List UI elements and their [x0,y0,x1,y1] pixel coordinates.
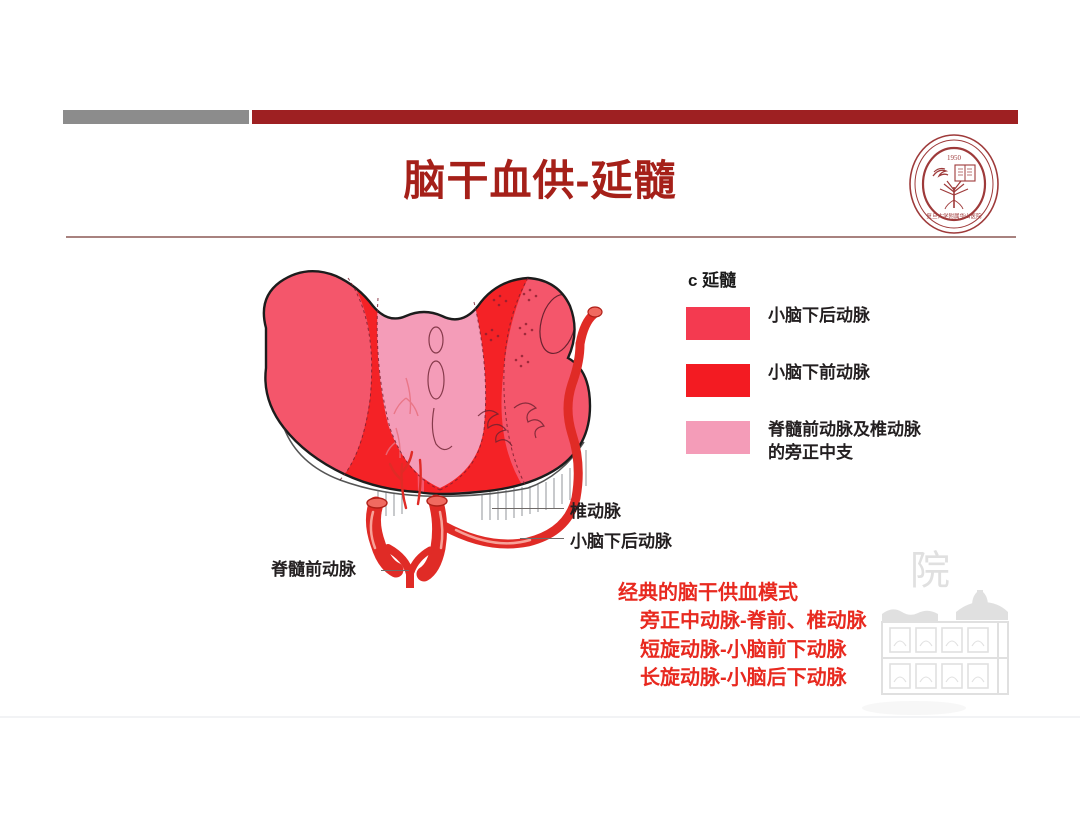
legend-swatch-aica [686,364,750,397]
topbar-red-segment [252,110,1018,124]
figure-label-pica: 小脑下后动脉 [570,527,672,552]
hospital-emblem-icon: 1950 复旦大学附属华山医院 [900,132,1008,236]
emphasis-text-block: 经典的脑干供血模式 旁正中动脉-脊前、椎动脉 短旋动脉-小脑前下动脉 长旋动脉-… [618,579,867,693]
legend-label-paramedian: 脊髓前动脉及椎动脉的旁正中支 [768,419,933,465]
legend-item-aica: 小脑下前动脉 [686,362,936,397]
svg-text:复旦大学附属华山医院: 复旦大学附属华山医院 [926,212,982,220]
emphasis-line-paramedian: 旁正中动脉-脊前、椎动脉 [618,607,867,635]
emphasis-line-heading: 经典的脑干供血模式 [618,579,867,607]
slide-bottom-divider [0,716,1080,718]
topbar-gray-segment [63,110,249,124]
leader-line-pica [520,538,564,539]
leader-line-anterior-spinal-artery [381,570,409,571]
legend-label-aica: 小脑下前动脉 [768,362,870,385]
legend-item-pica: 小脑下后动脉 [686,305,936,340]
hospital-building-watermark: 院 [852,550,1032,725]
svg-text:院: 院 [910,550,950,593]
legend: c 延髓 小脑下后动脉 小脑下前动脉 脊髓前动脉及椎动脉的旁正中支 [686,266,936,487]
emphasis-line-short-circumferential: 短旋动脉-小脑前下动脉 [618,636,867,664]
title-divider [66,236,1016,238]
legend-swatch-pica [686,307,750,340]
slide-canvas: 脑干血供-延髓 1950 复旦大学附属华山医院 [0,0,1080,834]
leader-line-vertebral-artery [492,508,564,509]
figure-label-anterior-spinal-artery: 脊髓前动脉 [271,555,356,580]
legend-label-pica: 小脑下后动脉 [768,305,870,328]
legend-swatch-paramedian [686,421,750,454]
figure-label-vertebral-artery: 椎动脉 [570,497,621,522]
legend-header: c 延髓 [688,266,936,291]
svg-text:1950: 1950 [947,154,962,162]
emphasis-line-long-circumferential: 长旋动脉-小脑后下动脉 [618,664,867,692]
legend-item-paramedian: 脊髓前动脉及椎动脉的旁正中支 [686,419,936,465]
